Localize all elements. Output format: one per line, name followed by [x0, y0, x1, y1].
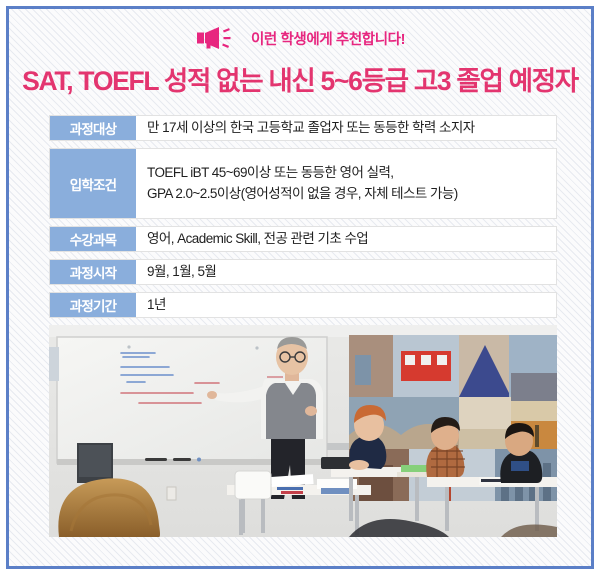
row-value: 영어, Academic Skill, 전공 관련 기초 수업 [136, 227, 556, 251]
row-label: 입학조건 [50, 149, 136, 218]
table-row: 과정시작 9월, 1월, 5월 [49, 259, 557, 285]
table-row: 입학조건 TOEFL iBT 45~69이상 또는 동등한 영어 실력, GPA… [49, 148, 557, 219]
classroom-photo [49, 325, 557, 537]
row-label: 과정대상 [50, 116, 136, 140]
row-value-line: TOEFL iBT 45~69이상 또는 동등한 영어 실력, [147, 163, 556, 184]
row-value: TOEFL iBT 45~69이상 또는 동등한 영어 실력, GPA 2.0~… [136, 149, 556, 218]
row-label: 과정기간 [50, 293, 136, 317]
row-value: 1년 [136, 293, 556, 317]
table-row: 과정기간 1년 [49, 292, 557, 318]
megaphone-icon [195, 26, 239, 50]
table-row: 과정대상 만 17세 이상의 한국 고등학교 졸업자 또는 동등한 학력 소지자 [49, 115, 557, 141]
row-label: 수강과목 [50, 227, 136, 251]
row-value-line: 9월, 1월, 5월 [147, 262, 556, 283]
row-value: 9월, 1월, 5월 [136, 260, 556, 284]
row-value: 만 17세 이상의 한국 고등학교 졸업자 또는 동등한 학력 소지자 [136, 116, 556, 140]
poster-subtitle: 이런 학생에게 추천합니다! [251, 28, 405, 49]
row-value-line: 만 17세 이상의 한국 고등학교 졸업자 또는 동등한 학력 소지자 [147, 118, 556, 139]
subtitle-row: 이런 학생에게 추천합니다! [9, 25, 591, 51]
row-label: 과정시작 [50, 260, 136, 284]
spec-table: 과정대상 만 17세 이상의 한국 고등학교 졸업자 또는 동등한 학력 소지자… [49, 115, 557, 325]
promo-poster: 이런 학생에게 추천합니다! SAT, TOEFL 성적 없는 내신 5~6등급… [6, 6, 594, 569]
poster-header: 이런 학생에게 추천합니다! SAT, TOEFL 성적 없는 내신 5~6등급… [9, 9, 591, 98]
row-value-line: 1년 [147, 295, 556, 316]
page-title: SAT, TOEFL 성적 없는 내신 5~6등급 고3 졸업 예정자 [9, 59, 591, 98]
row-value-line: GPA 2.0~2.5이상(영어성적이 없을 경우, 자체 테스트 가능) [147, 184, 556, 205]
row-value-line: 영어, Academic Skill, 전공 관련 기초 수업 [147, 229, 556, 250]
table-row: 수강과목 영어, Academic Skill, 전공 관련 기초 수업 [49, 226, 557, 252]
